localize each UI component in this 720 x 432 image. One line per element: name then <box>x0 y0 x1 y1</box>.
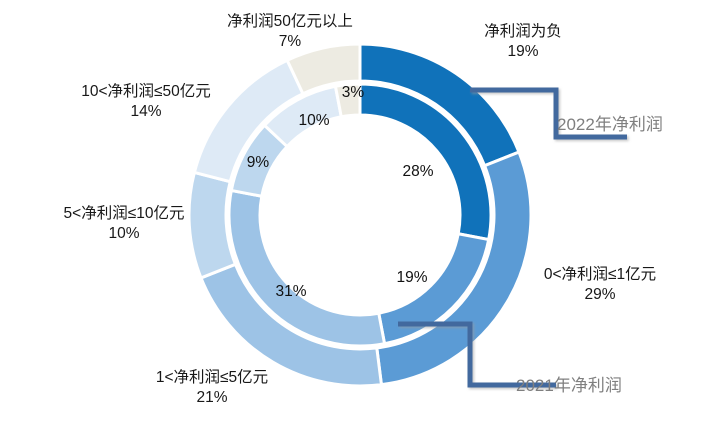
label-10-50yi: 10<净利润≤50亿元 14% <box>46 82 246 122</box>
inner-pct-1-5yi: 31% <box>265 283 317 301</box>
label-pct: 21% <box>112 388 312 408</box>
label-name: 10<净利润≤50亿元 <box>81 83 211 100</box>
label-0-1yi: 0<净利润≤1亿元 29% <box>500 265 700 305</box>
label-name: 5<净利润≤10亿元 <box>64 205 185 222</box>
label-5-10yi: 5<净利润≤10亿元 10% <box>24 204 224 244</box>
callout-label-2021: 2021年净利润 <box>516 371 622 396</box>
label-pct: 14% <box>46 102 246 122</box>
donut-chart: 净利润为负 19% 0<净利润≤1亿元 29% 1<净利润≤5亿元 21% 5<… <box>0 0 720 432</box>
label-name: 0<净利润≤1亿元 <box>544 266 656 283</box>
label-pct: 10% <box>24 224 224 244</box>
inner-pct-10-50yi: 10% <box>288 112 340 130</box>
inner-pct-5-10yi: 9% <box>236 154 280 172</box>
label-50yi-above: 净利润50亿元以上 7% <box>185 12 395 52</box>
label-pct: 19% <box>438 42 608 62</box>
label-1-5yi: 1<净利润≤5亿元 21% <box>112 368 312 408</box>
inner-pct-0-1yi: 19% <box>386 269 438 287</box>
inner-ring-2021 <box>229 84 491 346</box>
inner-pct-50yi-above: 3% <box>331 84 375 102</box>
label-pct: 7% <box>185 32 395 52</box>
label-name: 净利润为负 <box>484 23 562 40</box>
label-净利润为负: 净利润为负 19% <box>438 22 608 62</box>
label-pct: 29% <box>500 285 700 305</box>
label-name: 1<净利润≤5亿元 <box>156 369 268 386</box>
inner-pct-净利润为负: 28% <box>392 163 444 181</box>
callout-label-2022: 2022年净利润 <box>557 110 663 135</box>
label-name: 净利润50亿元以上 <box>227 13 353 30</box>
